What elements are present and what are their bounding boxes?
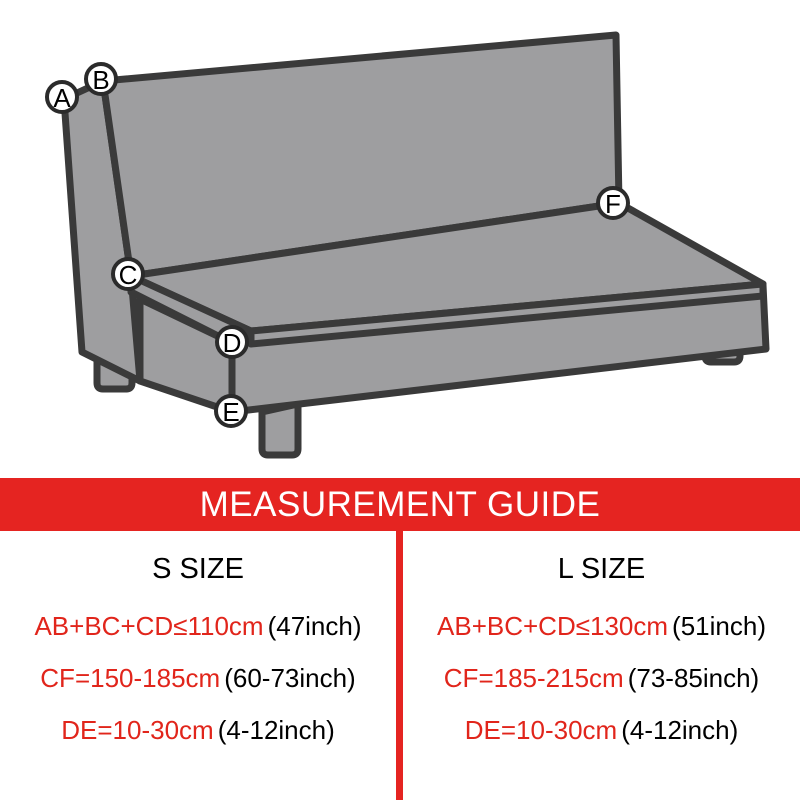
measurement-row-l-cf: CF=185-215cm(73-85inch) xyxy=(444,665,759,691)
measurement-inch-s-cf: (60-73inch) xyxy=(224,663,356,693)
point-label-a: A xyxy=(53,83,71,113)
size-heading-s: S SIZE xyxy=(152,555,244,584)
measurement-row-l-ab-bc-cd: AB+BC+CD≤130cm(51inch) xyxy=(437,613,766,639)
measurement-inch-l-de: (4-12inch) xyxy=(621,715,738,745)
column-divider xyxy=(396,531,403,800)
sofa-diagram: A B C D E F xyxy=(0,0,800,478)
measurement-row-l-de: DE=10-30cm(4-12inch) xyxy=(465,717,739,743)
measurement-inch-l-ab-bc-cd: (51inch) xyxy=(672,611,766,641)
sofa-leg-front-left xyxy=(262,404,298,455)
point-label-f: F xyxy=(605,189,621,219)
measurement-guide-page: A B C D E F MEASUREMENT GUIDE S SIZE xyxy=(0,0,800,800)
measurement-cm-l-de: DE=10-30cm xyxy=(465,715,617,745)
size-column-s: S SIZE AB+BC+CD≤110cm(47inch) CF=150-185… xyxy=(0,531,396,800)
measurement-cm-s-cf: CF=150-185cm xyxy=(40,663,220,693)
measurement-row-s-cf: CF=150-185cm(60-73inch) xyxy=(40,665,355,691)
measurement-cm-l-cf: CF=185-215cm xyxy=(444,663,624,693)
point-label-d: D xyxy=(223,328,242,358)
measurement-cm-s-de: DE=10-30cm xyxy=(61,715,213,745)
measurement-inch-l-cf: (73-85inch) xyxy=(628,663,760,693)
sofa-diagram-container: A B C D E F xyxy=(0,0,800,478)
measurement-cm-s-ab-bc-cd: AB+BC+CD≤110cm xyxy=(34,611,263,641)
measurement-cm-l-ab-bc-cd: AB+BC+CD≤130cm xyxy=(437,611,668,641)
size-heading-l: L SIZE xyxy=(558,555,646,584)
measurement-inch-s-de: (4-12inch) xyxy=(218,715,335,745)
measurement-row-s-ab-bc-cd: AB+BC+CD≤110cm(47inch) xyxy=(34,613,361,639)
measurement-row-s-de: DE=10-30cm(4-12inch) xyxy=(61,717,335,743)
size-column-l: L SIZE AB+BC+CD≤130cm(51inch) CF=185-215… xyxy=(403,531,800,800)
size-table: S SIZE AB+BC+CD≤110cm(47inch) CF=150-185… xyxy=(0,531,800,800)
point-label-c: C xyxy=(119,260,138,290)
banner-title: MEASUREMENT GUIDE xyxy=(200,487,601,522)
measurement-inch-s-ab-bc-cd: (47inch) xyxy=(268,611,362,641)
measurement-guide-banner: MEASUREMENT GUIDE xyxy=(0,478,800,531)
point-label-b: B xyxy=(92,65,109,95)
point-label-e: E xyxy=(222,397,239,427)
